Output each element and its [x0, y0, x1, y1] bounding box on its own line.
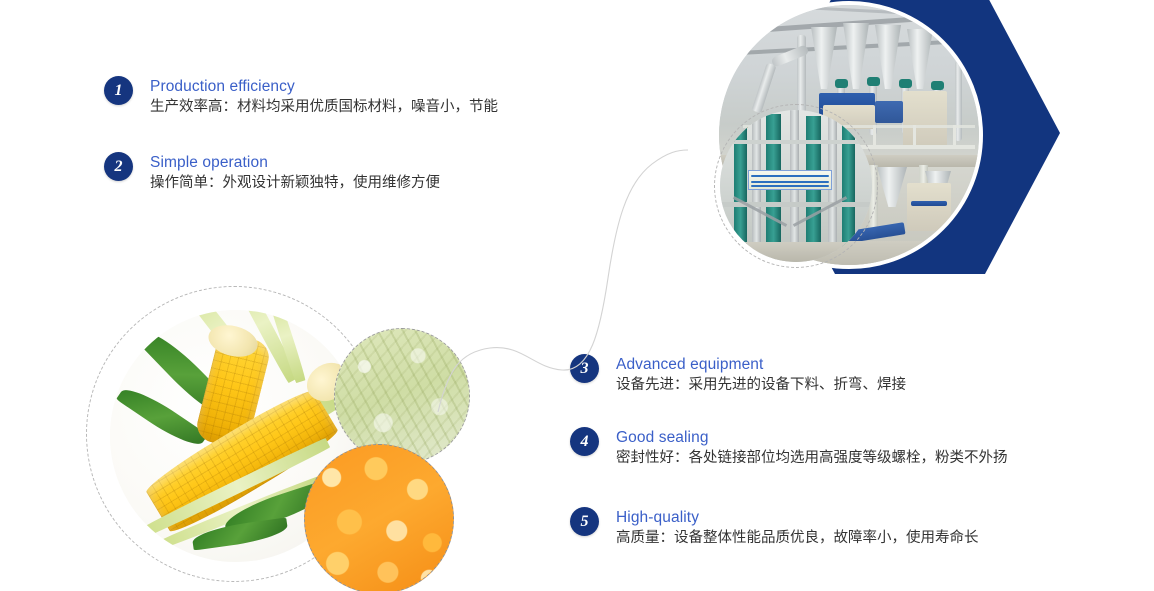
feature-text-1: Production efficiency 生产效率高：材料均采用优质国标材料，…	[150, 76, 498, 118]
feature-title-2: Simple operation	[150, 153, 440, 172]
feature-desc-1: 生产效率高：材料均采用优质国标材料，噪音小，节能	[150, 97, 498, 118]
feature-item-4[interactable]: 4 Good sealing 密封性好：各处链接部位均选用高强度等级螺栓，粉类不…	[570, 427, 1008, 469]
feature-badge-2: 2	[104, 152, 133, 181]
corn-product-photo-group	[86, 286, 486, 591]
feature-text-2: Simple operation 操作简单：外观设计新颖独特，使用维修方便	[150, 152, 440, 194]
feature-item-2[interactable]: 2 Simple operation 操作简单：外观设计新颖独特，使用维修方便	[104, 152, 440, 194]
equipment-sign	[748, 170, 832, 190]
feature-desc-4: 密封性好：各处链接部位均选用高强度等级螺栓，粉类不外扬	[616, 448, 1008, 469]
feature-desc-2: 操作简单：外观设计新颖独特，使用维修方便	[150, 173, 440, 194]
feature-title-4: Good sealing	[616, 428, 1008, 447]
feature-item-1[interactable]: 1 Production efficiency 生产效率高：材料均采用优质国标材…	[104, 76, 498, 118]
feature-title-5: High-quality	[616, 508, 979, 527]
feature-title-1: Production efficiency	[150, 77, 498, 96]
feature-badge-5: 5	[570, 507, 599, 536]
feature-badge-4: 4	[570, 427, 599, 456]
feature-text-4: Good sealing 密封性好：各处链接部位均选用高强度等级螺栓，粉类不外扬	[616, 427, 1008, 469]
corn-grits-photo	[304, 444, 454, 591]
infographic-canvas: 1 Production efficiency 生产效率高：材料均采用优质国标材…	[0, 0, 1154, 591]
feature-badge-1: 1	[104, 76, 133, 105]
dashed-connector-curve	[430, 120, 690, 420]
feature-text-5: High-quality 高质量：设备整体性能品质优良，故障率小，使用寿命长	[616, 507, 979, 549]
feature-desc-5: 高质量：设备整体性能品质优良，故障率小，使用寿命长	[616, 528, 979, 549]
feature-item-5[interactable]: 5 High-quality 高质量：设备整体性能品质优良，故障率小，使用寿命长	[570, 507, 979, 549]
equipment-photo-group	[700, 0, 1154, 282]
teal-milling-line-photo	[720, 110, 872, 262]
